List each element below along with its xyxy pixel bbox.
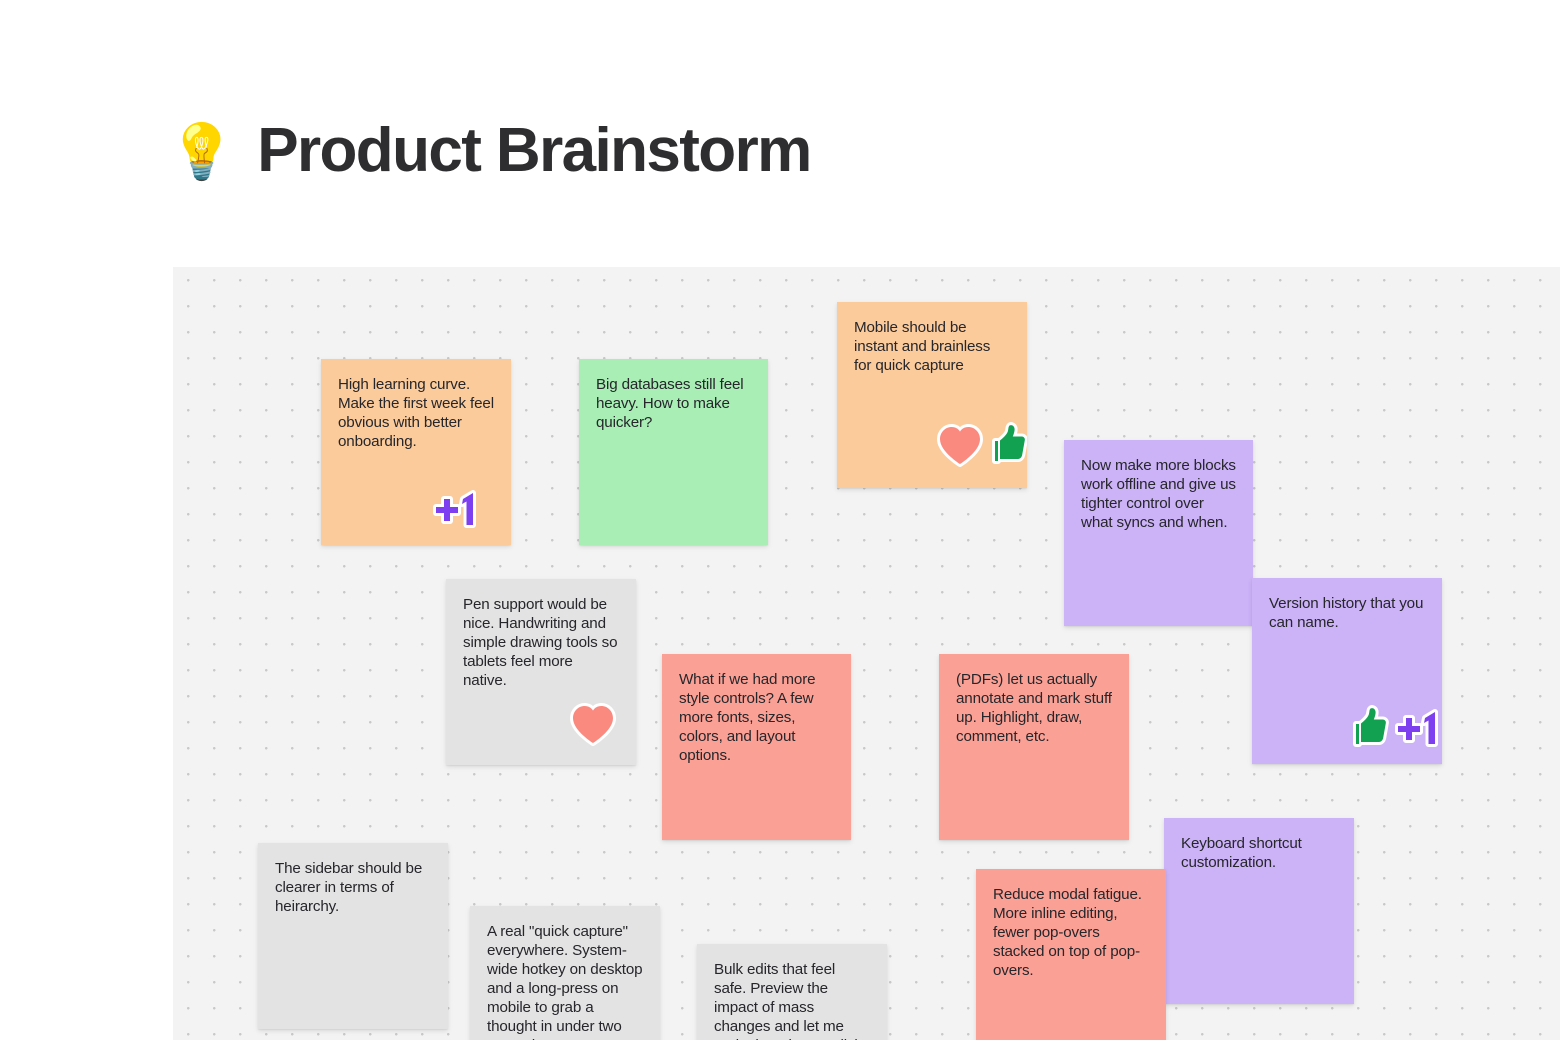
- thumbs-up-sticker[interactable]: [984, 421, 1027, 472]
- sticky-note-text: Reduce modal fatigue. More inline editin…: [993, 885, 1149, 980]
- thumbs-up-icon-glyph: [1345, 704, 1391, 750]
- reaction-sticker-group[interactable]: [569, 702, 617, 751]
- sticky-note-text: Keyboard shortcut customization.: [1181, 834, 1337, 872]
- reaction-sticker-group[interactable]: [429, 485, 481, 536]
- sticky-note-text: The sidebar should be clearer in terms o…: [275, 859, 431, 916]
- page-header: 💡 Product Brainstorm: [168, 104, 811, 196]
- heart-icon-glyph: [936, 423, 984, 467]
- sticky-note-text: What if we had more style controls? A fe…: [679, 670, 834, 765]
- sticky-note-text: High learning curve. Make the first week…: [338, 375, 494, 451]
- page-title: Product Brainstorm: [257, 115, 810, 186]
- sticky-note-text: Mobile should be instant and brainless f…: [854, 318, 1010, 375]
- plus-one-sticker[interactable]: [1391, 704, 1442, 755]
- sticky-note[interactable]: What if we had more style controls? A fe…: [662, 654, 851, 840]
- plus-one-badge-glyph: [1391, 704, 1442, 750]
- thumbs-up-sticker[interactable]: [1345, 704, 1391, 755]
- plus-one-badge-glyph: [429, 485, 481, 531]
- sticky-note-text: (PDFs) let us actually annotate and mark…: [956, 670, 1112, 746]
- heart-sticker[interactable]: [936, 423, 984, 472]
- sticky-note[interactable]: Pen support would be nice. Handwriting a…: [446, 579, 636, 765]
- sticky-note[interactable]: Reduce modal fatigue. More inline editin…: [976, 869, 1166, 1040]
- reaction-sticker-group[interactable]: [1345, 704, 1442, 755]
- whiteboard-canvas[interactable]: High learning curve. Make the first week…: [173, 267, 1560, 1040]
- sticky-note[interactable]: High learning curve. Make the first week…: [321, 359, 511, 545]
- sticky-note[interactable]: Now make more blocks work offline and gi…: [1064, 440, 1253, 626]
- sticky-note-text: Big databases still feel heavy. How to m…: [596, 375, 751, 432]
- heart-sticker[interactable]: [569, 702, 617, 751]
- reaction-sticker-group[interactable]: [936, 421, 1027, 472]
- sticky-note[interactable]: A real "quick capture" everywhere. Syste…: [470, 906, 660, 1040]
- heart-icon-glyph: [569, 702, 617, 746]
- light-bulb-icon: 💡: [168, 125, 235, 179]
- thumbs-up-icon-glyph: [984, 421, 1027, 467]
- sticky-note-text: Bulk edits that feel safe. Preview the i…: [714, 960, 870, 1040]
- sticky-note-text: Now make more blocks work offline and gi…: [1081, 456, 1236, 532]
- sticky-note[interactable]: Mobile should be instant and brainless f…: [837, 302, 1027, 488]
- sticky-note-text: A real "quick capture" everywhere. Syste…: [487, 922, 643, 1040]
- sticky-note[interactable]: (PDFs) let us actually annotate and mark…: [939, 654, 1129, 840]
- sticky-note[interactable]: Bulk edits that feel safe. Preview the i…: [697, 944, 887, 1040]
- sticky-note[interactable]: The sidebar should be clearer in terms o…: [258, 843, 448, 1029]
- sticky-note[interactable]: Keyboard shortcut customization.: [1164, 818, 1354, 1004]
- plus-one-sticker[interactable]: [429, 485, 481, 536]
- sticky-note[interactable]: Big databases still feel heavy. How to m…: [579, 359, 768, 545]
- sticky-note-text: Version history that you can name.: [1269, 594, 1425, 632]
- sticky-note-text: Pen support would be nice. Handwriting a…: [463, 595, 619, 690]
- sticky-note[interactable]: Version history that you can name.: [1252, 578, 1442, 764]
